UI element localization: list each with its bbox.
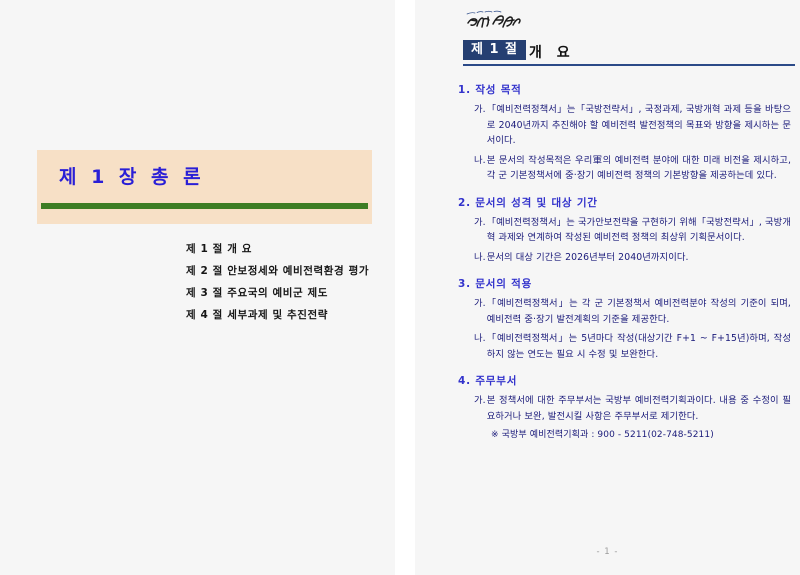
sub-item-label: 나.: [474, 153, 486, 184]
calligraphy-logo-icon: [463, 8, 529, 32]
section-heading: 1. 작성 목적: [441, 82, 791, 97]
right-page: 제 1 절 개 요 1. 작성 목적 가. 「예비전력정책서」는「국방전략서」,…: [415, 0, 800, 575]
sub-item: 가. 본 정책서에 대한 주무부서는 국방부 예비전력기획과이다. 내용 중 수…: [441, 393, 791, 424]
section-block: 2. 문서의 성격 및 대상 기간 가. 「예비전력정책서」는 국가안보전략을 …: [441, 195, 791, 266]
sub-item: 가. 「예비전력정책서」는「국방전략서」, 국정과제, 국방개혁 과제 등을 바…: [441, 102, 791, 149]
chapter-cover-band: 제 1 장 총 론: [37, 150, 372, 224]
page-number: - 1 -: [415, 547, 800, 557]
sub-item-label: 가.: [474, 393, 486, 424]
sub-item-label: 가.: [474, 215, 486, 246]
section-header-rule: [463, 64, 795, 66]
sub-item-text: 「예비전력정책서」는 각 군 기본정책서 예비전력분야 작성의 기준이 되며, …: [487, 296, 791, 327]
chapter-rule-divider: [41, 203, 368, 209]
sub-item-label: 가.: [474, 102, 486, 149]
sub-item-label: 나.: [474, 331, 486, 362]
section-header: 제 1 절 개 요: [463, 40, 795, 66]
sub-item: 가. 「예비전력정책서」는 국가안보전략을 구현하기 위해「국방전략서」, 국방…: [441, 215, 791, 246]
section-number-badge: 제 1 절: [463, 40, 526, 60]
sub-item-label: 가.: [474, 296, 486, 327]
toc-item[interactable]: 제 4 절 세부과제 및 추진전략: [186, 304, 396, 326]
sub-item-text: 「예비전력정책서」는 국가안보전략을 구현하기 위해「국방전략서」, 국방개혁 …: [487, 215, 791, 246]
section-heading: 3. 문서의 적용: [441, 276, 791, 291]
page-gutter: [395, 0, 415, 575]
sub-item-text: 「예비전력정책서」는 5년마다 작성(대상기간 F+1 ~ F+15년)하며, …: [487, 331, 791, 362]
section-title: 개 요: [529, 42, 575, 62]
section-note: ※ 국방부 예비전력기획과 : 900 - 5211(02-748-5211): [441, 428, 791, 443]
section-heading: 2. 문서의 성격 및 대상 기간: [441, 195, 791, 210]
sub-item-text: 본 정책서에 대한 주무부서는 국방부 예비전력기획과이다. 내용 중 수정이 …: [487, 393, 791, 424]
sub-item-text: 문서의 대상 기간은 2026년부터 2040년까지이다.: [487, 250, 791, 266]
sub-item: 나. 「예비전력정책서」는 5년마다 작성(대상기간 F+1 ~ F+15년)하…: [441, 331, 791, 362]
toc-item[interactable]: 제 2 절 안보정세와 예비전력환경 평가: [186, 260, 396, 282]
chapter-title: 제 1 장 총 론: [37, 162, 372, 189]
toc-item[interactable]: 제 3 절 주요국의 예비군 제도: [186, 282, 396, 304]
sub-item-text: 본 문서의 작성목적은 우리軍의 예비전력 분야에 대한 미래 비전을 제시하고…: [487, 153, 791, 184]
sub-item: 가. 「예비전력정책서」는 각 군 기본정책서 예비전력분야 작성의 기준이 되…: [441, 296, 791, 327]
sub-item: 나. 본 문서의 작성목적은 우리軍의 예비전력 분야에 대한 미래 비전을 제…: [441, 153, 791, 184]
section-block: 1. 작성 목적 가. 「예비전력정책서」는「국방전략서」, 국정과제, 국방개…: [441, 82, 791, 184]
section-block: 3. 문서의 적용 가. 「예비전력정책서」는 각 군 기본정책서 예비전력분야…: [441, 276, 791, 362]
page-body: 1. 작성 목적 가. 「예비전력정책서」는「국방전략서」, 국정과제, 국방개…: [441, 82, 791, 454]
toc-item[interactable]: 제 1 절 개 요: [186, 238, 396, 260]
section-block: 4. 주무부서 가. 본 정책서에 대한 주무부서는 국방부 예비전력기획과이다…: [441, 373, 791, 443]
sub-item-label: 나.: [474, 250, 486, 266]
document-spread: 제 1 장 총 론 제 1 절 개 요 제 2 절 안보정세와 예비전력환경 평…: [0, 0, 800, 575]
left-page: 제 1 장 총 론 제 1 절 개 요 제 2 절 안보정세와 예비전력환경 평…: [0, 0, 395, 575]
section-heading: 4. 주무부서: [441, 373, 791, 388]
sub-item-text: 「예비전력정책서」는「국방전략서」, 국정과제, 국방개혁 과제 등을 바탕으로…: [487, 102, 791, 149]
sub-item: 나. 문서의 대상 기간은 2026년부터 2040년까지이다.: [441, 250, 791, 266]
table-of-contents: 제 1 절 개 요 제 2 절 안보정세와 예비전력환경 평가 제 3 절 주요…: [186, 238, 396, 326]
